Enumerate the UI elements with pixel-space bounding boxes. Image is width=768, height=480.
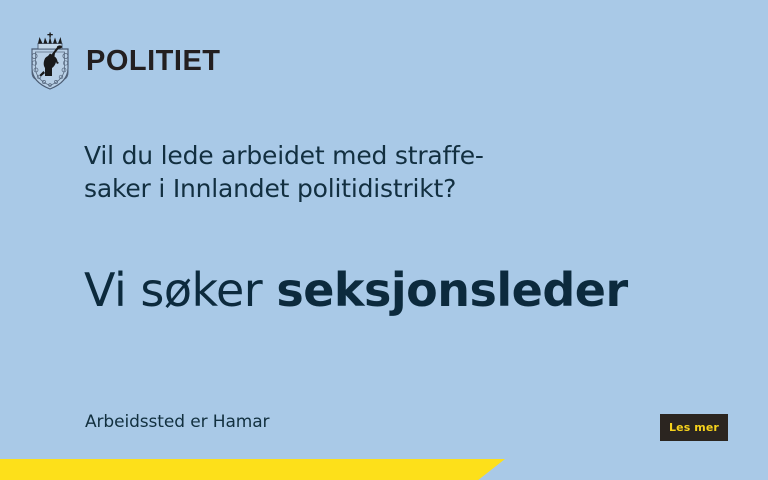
politiet-logo-lockup[interactable]: POLITIET [26,32,221,90]
statement-lead: Vi søker [84,263,276,317]
read-more-button[interactable]: Les mer [660,414,728,441]
norwegian-coat-of-arms-icon [26,32,74,90]
question-line-2: saker i Innlandet politidistrikt? [84,172,644,205]
role-statement: Vi søker seksjonsleder [84,265,724,316]
workplace-location: Arbeidssted er Hamar [85,412,269,432]
question-headline: Vil du lede arbeidet med straffe- saker … [84,139,644,205]
statement-role: seksjonsleder [276,263,627,317]
politiet-wordmark: POLITIET [86,47,221,76]
read-more-label: Les mer [669,422,719,433]
recruitment-banner: POLITIET Vil du lede arbeidet med straff… [0,0,768,480]
question-line-1: Vil du lede arbeidet med straffe- [84,139,644,172]
yellow-accent-band [0,459,505,480]
